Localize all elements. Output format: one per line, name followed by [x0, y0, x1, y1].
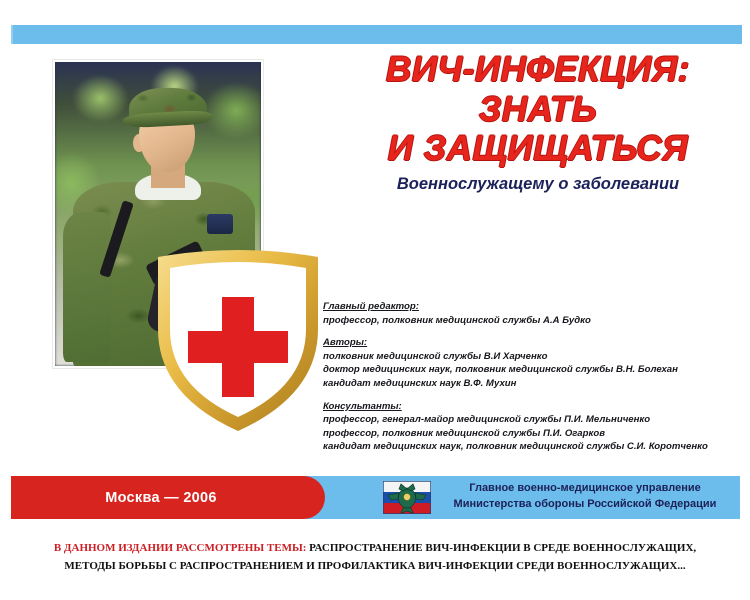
poster-subtitle: Военнослужащему о заболевании: [336, 175, 740, 194]
credit-line: профессор, полковник медицинской службы …: [323, 427, 741, 441]
credit-heading: Консультанты:: [323, 400, 741, 414]
footer-topics: В ДАННОМ ИЗДАНИИ РАССМОТРЕНЫ ТЕМЫ: РАСПР…: [0, 540, 750, 575]
poster-card: ВИЧ-ИНФЕКЦИЯ: ЗНАТЬ И ЗАЩИЩАТЬСЯ Военнос…: [0, 0, 750, 535]
credit-group-authors: Авторы: полковник медицинской службы В.И…: [323, 336, 741, 390]
credit-line: полковник медицинской службы В.И Харченк…: [323, 350, 741, 364]
top-blue-bar: [11, 25, 742, 44]
credit-group-consultants: Консультанты: профессор, генерал-майор м…: [323, 400, 741, 454]
credit-line: профессор, генерал-майор медицинской слу…: [323, 413, 741, 427]
credit-line: доктор медицинских наук, полковник медиц…: [323, 363, 741, 377]
ministry-label: Главное военно-медицинское управление Ми…: [440, 481, 730, 512]
footer-line-2: МЕТОДЫ БОРЬБЫ С РАСПРОСТРАНЕНИЕМ И ПРОФИ…: [0, 558, 750, 576]
credit-line: кандидат медицинских наук В.Ф. Мухин: [323, 377, 741, 391]
credits-block: Главный редактор: профессор, полковник м…: [323, 300, 741, 454]
russian-flag-eagle-emblem-icon: [383, 481, 431, 514]
photo-soldier-arm: [63, 212, 111, 362]
title-line-3: И ЗАЩИЩАТЬСЯ: [336, 131, 740, 167]
red-cross-shield-icon: [150, 245, 326, 435]
footer-line-1: В ДАННОМ ИЗДАНИИ РАССМОТРЕНЫ ТЕМЫ: РАСПР…: [0, 540, 750, 558]
title-line-1: ВИЧ-ИНФЕКЦИЯ:: [336, 52, 740, 88]
credit-heading: Авторы:: [323, 336, 741, 350]
credit-heading: Главный редактор:: [323, 300, 741, 314]
photo-shoulder-patch: [207, 214, 233, 234]
title-line-2: ЗНАТЬ: [336, 92, 740, 128]
footer-highlight: В ДАННОМ ИЗДАНИИ РАССМОТРЕНЫ ТЕМЫ:: [54, 542, 307, 554]
poster-title-block: ВИЧ-ИНФЕКЦИЯ: ЗНАТЬ И ЗАЩИЩАТЬСЯ Военнос…: [336, 52, 740, 194]
place-year-label: Москва — 2006: [11, 476, 311, 519]
ministry-line-1: Главное военно-медицинское управление: [469, 482, 700, 494]
credit-line: профессор, полковник медицинской службы …: [323, 314, 741, 328]
credit-line: кандидат медицинских наук, полковник мед…: [323, 440, 741, 454]
footer-line-1-rest: РАСПРОСТРАНЕНИЕ ВИЧ-ИНФЕКЦИИ В СРЕДЕ ВОЕ…: [306, 542, 696, 554]
credit-group-editor: Главный редактор: профессор, полковник м…: [323, 300, 741, 327]
ministry-line-2: Министерства обороны Российской Федераци…: [454, 498, 717, 510]
